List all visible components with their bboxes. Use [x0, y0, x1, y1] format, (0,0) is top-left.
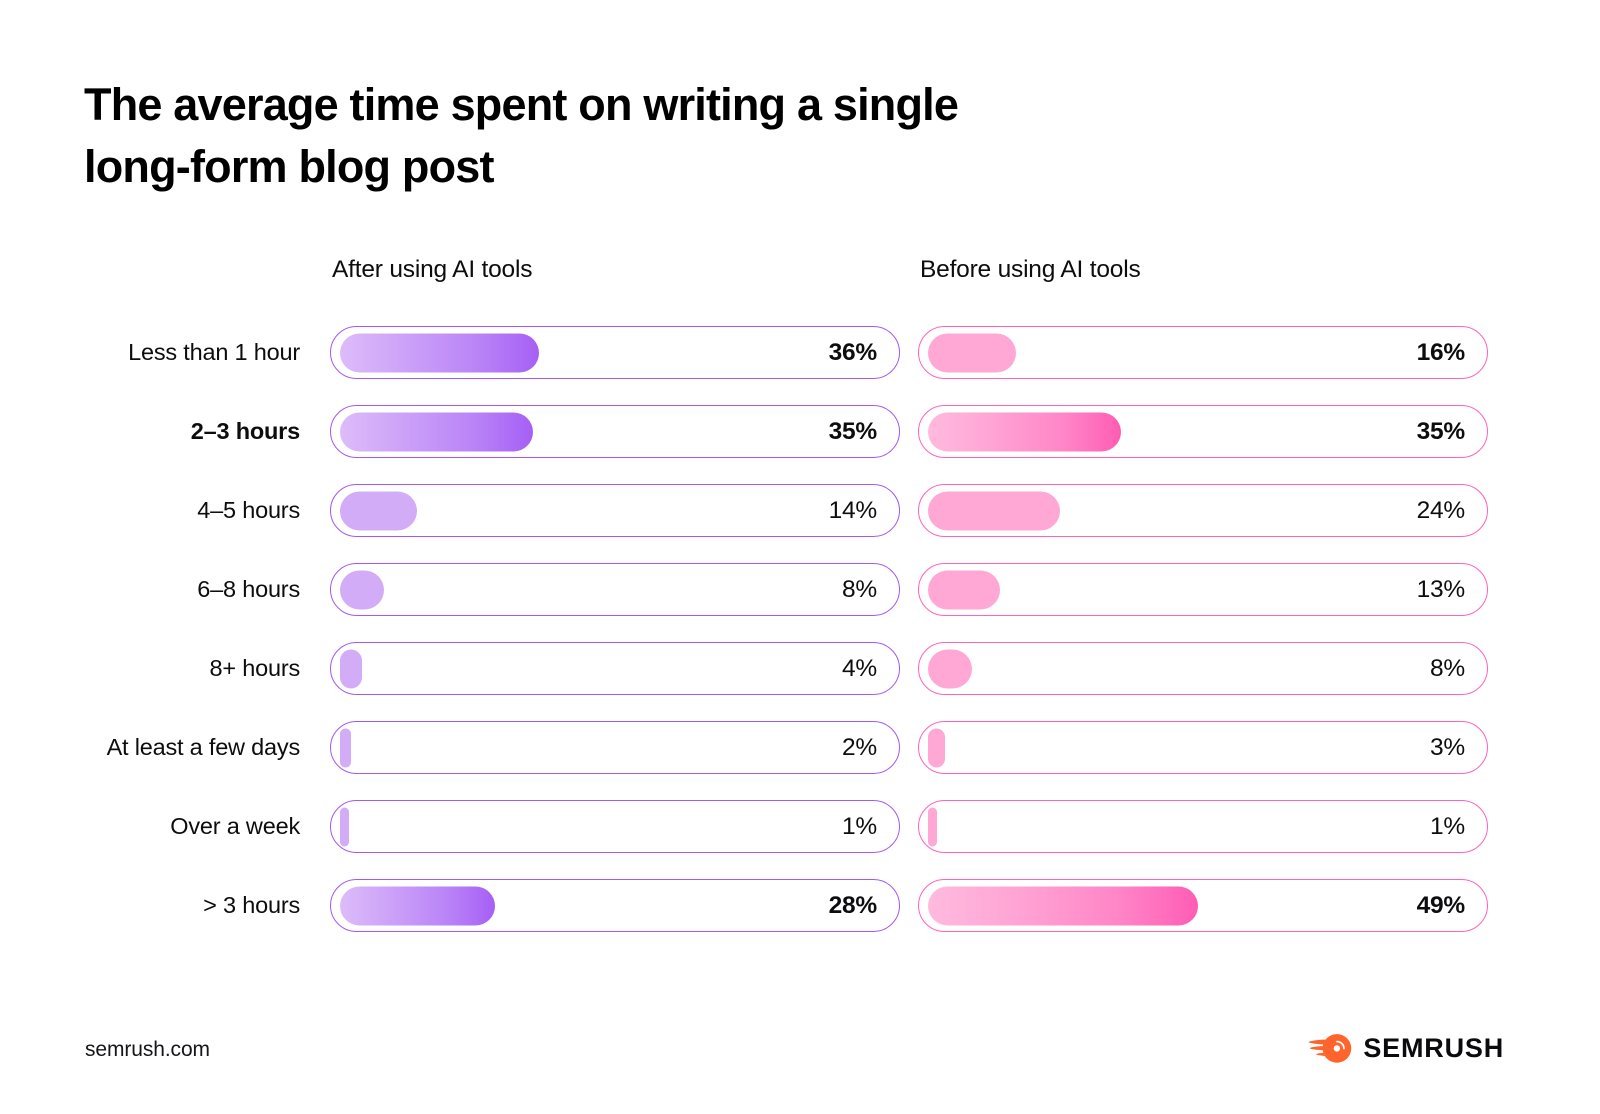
bar-fill-right — [928, 491, 1060, 530]
bar-value-left: 2% — [842, 734, 877, 762]
bar-track-left: 36% — [330, 326, 900, 379]
chart-row: Less than 1 hour36%16% — [0, 322, 1600, 382]
chart-row: > 3 hours28%49% — [0, 875, 1600, 935]
bar-track-right: 13% — [918, 563, 1488, 616]
semrush-comet-icon — [1308, 1032, 1352, 1065]
bar-value-right: 3% — [1430, 734, 1465, 762]
bar-track-left: 4% — [330, 642, 900, 695]
bar-value-left: 28% — [829, 892, 877, 920]
brand-name: SEMRUSH — [1363, 1033, 1504, 1064]
row-label: Less than 1 hour — [0, 322, 300, 382]
bar-value-left: 36% — [829, 339, 877, 367]
bar-track-right: 49% — [918, 879, 1488, 932]
chart-row: At least a few days2%3% — [0, 717, 1600, 777]
footer-url: semrush.com — [85, 1038, 210, 1062]
bar-value-left: 8% — [842, 576, 877, 604]
bar-chart: Less than 1 hour36%16%2–3 hours35%35%4–5… — [0, 322, 1600, 935]
bar-value-left: 4% — [842, 655, 877, 683]
row-label: 2–3 hours — [0, 401, 300, 461]
row-label: > 3 hours — [0, 875, 300, 935]
bar-value-right: 13% — [1417, 576, 1465, 604]
infographic-page: The average time spent on writing a sing… — [0, 0, 1600, 1114]
bar-track-right: 8% — [918, 642, 1488, 695]
bar-track-left: 2% — [330, 721, 900, 774]
bar-fill-right — [928, 807, 937, 846]
bar-wrap — [340, 333, 890, 372]
bar-track-right: 24% — [918, 484, 1488, 537]
chart-row: Over a week1%1% — [0, 796, 1600, 856]
bar-wrap — [928, 728, 1478, 767]
bar-wrap — [340, 807, 890, 846]
bar-fill-left — [340, 728, 351, 767]
bar-value-left: 35% — [829, 418, 877, 446]
bar-value-right: 49% — [1417, 892, 1465, 920]
page-title-line-2: long-form blog post — [84, 136, 1184, 198]
row-label: 6–8 hours — [0, 559, 300, 619]
brand-logo: SEMRUSH — [1308, 1032, 1504, 1065]
bar-wrap — [340, 491, 890, 530]
bar-fill-left — [340, 491, 417, 530]
chart-row: 2–3 hours35%35% — [0, 401, 1600, 461]
bar-value-right: 16% — [1417, 339, 1465, 367]
bar-fill-left — [340, 570, 384, 609]
bar-value-right: 24% — [1417, 497, 1465, 525]
bar-wrap — [928, 649, 1478, 688]
column-header-before: Before using AI tools — [920, 256, 1141, 284]
bar-fill-left — [340, 412, 533, 451]
bar-track-right: 16% — [918, 326, 1488, 379]
bar-wrap — [340, 649, 890, 688]
bar-wrap — [340, 728, 890, 767]
bar-fill-right — [928, 570, 1000, 609]
bar-wrap — [340, 570, 890, 609]
bar-fill-left — [340, 333, 539, 372]
bar-fill-right — [928, 412, 1121, 451]
bar-wrap — [928, 807, 1478, 846]
column-header-after: After using AI tools — [332, 256, 532, 284]
page-title-line-1: The average time spent on writing a sing… — [84, 74, 1184, 136]
bar-value-right: 35% — [1417, 418, 1465, 446]
bar-track-left: 8% — [330, 563, 900, 616]
bar-track-left: 28% — [330, 879, 900, 932]
row-label: 4–5 hours — [0, 480, 300, 540]
bar-wrap — [928, 333, 1478, 372]
bar-track-left: 14% — [330, 484, 900, 537]
bar-fill-right — [928, 886, 1198, 925]
chart-row: 6–8 hours8%13% — [0, 559, 1600, 619]
bar-value-left: 14% — [829, 497, 877, 525]
bar-track-right: 3% — [918, 721, 1488, 774]
row-label: At least a few days — [0, 717, 300, 777]
bar-fill-right — [928, 728, 945, 767]
bar-track-left: 35% — [330, 405, 900, 458]
row-label: Over a week — [0, 796, 300, 856]
page-title: The average time spent on writing a sing… — [84, 74, 1184, 198]
bar-wrap — [928, 412, 1478, 451]
chart-row: 8+ hours4%8% — [0, 638, 1600, 698]
bar-value-left: 1% — [842, 813, 877, 841]
bar-wrap — [340, 412, 890, 451]
chart-row: 4–5 hours14%24% — [0, 480, 1600, 540]
bar-track-right: 35% — [918, 405, 1488, 458]
bar-wrap — [928, 570, 1478, 609]
bar-wrap — [928, 491, 1478, 530]
bar-fill-left — [340, 649, 362, 688]
bar-track-right: 1% — [918, 800, 1488, 853]
bar-value-right: 8% — [1430, 655, 1465, 683]
bar-wrap — [340, 886, 890, 925]
bar-fill-right — [928, 333, 1016, 372]
bar-track-left: 1% — [330, 800, 900, 853]
bar-wrap — [928, 886, 1478, 925]
bar-fill-right — [928, 649, 972, 688]
bar-fill-left — [340, 886, 495, 925]
row-label: 8+ hours — [0, 638, 300, 698]
bar-fill-left — [340, 807, 349, 846]
bar-value-right: 1% — [1430, 813, 1465, 841]
